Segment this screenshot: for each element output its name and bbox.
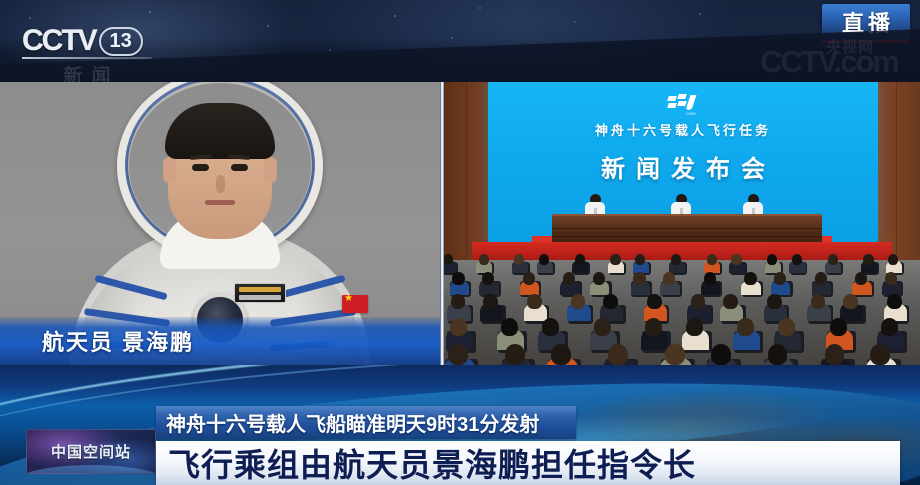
audience-member-head (830, 318, 847, 336)
audience-member-head (452, 272, 464, 285)
headline-bar: 飞行乘组由航天员景海鹏担任指令长 (156, 441, 900, 485)
astronaut-name-banner: 航天员 景海鹏 (0, 317, 440, 365)
audience-member-head (887, 294, 902, 309)
audience-member-head (843, 294, 858, 309)
audience-member-head (663, 272, 675, 285)
audience-member-head (711, 344, 731, 365)
channel-name-label: 新闻 (22, 61, 152, 83)
audience-member-head (665, 344, 685, 365)
audience-member-head (707, 254, 717, 265)
audience-member-head (593, 272, 605, 285)
audience-member-head (482, 272, 494, 285)
audience-member-head (737, 318, 754, 336)
audience-member-head (731, 254, 741, 265)
audience-member-head (527, 294, 542, 309)
cctv13-logo: CCTV 13 新闻 (22, 26, 152, 78)
left-video-panel-astronaut: 航天员 景海鹏 (0, 82, 440, 365)
audience-member-head (542, 318, 559, 336)
audience-member-head (885, 272, 897, 285)
audience-member-head (686, 318, 703, 336)
audience-member-head (888, 254, 898, 265)
audience-member-head (767, 254, 777, 265)
audience-member-head (505, 344, 525, 365)
watermark-domain-label: CCTV.com (760, 44, 898, 80)
audience-member-head (767, 294, 782, 309)
audience-member-head (539, 254, 549, 265)
watermark-cn-label: 央视网 (826, 36, 874, 57)
astronaut-eye (231, 164, 248, 171)
cms-logo-icon: CMS (668, 94, 698, 116)
audience-member-head (451, 294, 466, 309)
cms-logo-text: CMS (686, 111, 696, 116)
audience-seating (444, 250, 920, 365)
audience-member-head (815, 272, 827, 285)
kicker-bar: 神舟十六号载人飞船瞄准明天9时31分发射 (156, 406, 576, 439)
audience-member-head (571, 294, 586, 309)
audience-member-head (575, 254, 585, 265)
audience-member-head (774, 272, 786, 285)
audience-member-head (671, 254, 681, 265)
split-screen-video-area: 航天员 景海鹏 CMS 神舟十六号载人飞行任务 新闻发布会 (0, 82, 920, 365)
kicker-text: 神舟十六号载人飞船瞄准明天9时31分发射 (166, 408, 539, 437)
suit-name-tag (234, 283, 286, 303)
broadcast-screen: CCTV 13 新闻 直播 央视网 CCTV.com (0, 0, 920, 485)
china-flag-patch (342, 295, 368, 313)
audience-member-head (523, 272, 535, 285)
astronaut-ear (264, 157, 277, 183)
audience-member-head (610, 254, 620, 265)
china-space-station-badge: 中国空间站 (26, 429, 156, 474)
audience-member-head (647, 294, 662, 309)
audience-member-head (479, 254, 489, 265)
audience-member-head (825, 344, 845, 365)
audience-member-head (863, 254, 873, 265)
channel-number-badge: 13 (99, 27, 143, 56)
astronaut-mouth (205, 200, 235, 205)
audience-member-head (792, 254, 802, 265)
audience-member-head (450, 318, 467, 336)
audience-member-head (881, 318, 898, 336)
astronaut-ear (163, 157, 176, 183)
audience-member-head (444, 254, 453, 265)
audience-member-head (855, 272, 867, 285)
audience-member-head (811, 294, 826, 309)
audience-member-head (723, 294, 738, 309)
audience-member-head (828, 254, 838, 265)
audience-member-head (691, 294, 706, 309)
audience-member-head (608, 344, 628, 365)
headline-text: 飞行乘组由航天员景海鹏担任指令长 (168, 440, 696, 485)
audience-member-head (594, 318, 611, 336)
audience-member-head (603, 294, 618, 309)
audience-member-head (501, 318, 518, 336)
live-badge-label: 直播 (838, 6, 894, 38)
audience-member-head (704, 272, 716, 285)
right-video-panel-press-conference: CMS 神舟十六号载人飞行任务 新闻发布会 (444, 82, 920, 365)
audience-member-head (645, 318, 662, 336)
audience-member-head (768, 344, 788, 365)
logo-underline (22, 57, 152, 59)
audience-member-head (744, 272, 756, 285)
astronaut-nose (216, 175, 225, 193)
audience-member-head (870, 344, 890, 365)
audience-member-head (563, 272, 575, 285)
led-event-title: 新闻发布会 (590, 149, 776, 184)
audience-member-head (778, 318, 795, 336)
audience-member-head (448, 344, 468, 365)
astronaut-eye (192, 164, 209, 171)
header-starfield-band: CCTV 13 新闻 直播 央视网 CCTV.com (0, 0, 920, 83)
audience-member-head (483, 294, 498, 309)
live-badge: 直播 (822, 4, 910, 40)
cctv-wordmark: CCTV (22, 26, 96, 56)
astronaut-name-label: 航天员 景海鹏 (42, 325, 194, 357)
audience-member-head (551, 344, 571, 365)
china-space-station-label: 中国空间站 (51, 441, 131, 462)
cctv-com-watermark: 央视网 CCTV.com (714, 36, 904, 80)
audience-member-head (514, 254, 524, 265)
led-mission-title: 神舟十六号载人飞行任务 (595, 120, 771, 139)
audience-member-head (633, 272, 645, 285)
audience-member-head (635, 254, 645, 265)
